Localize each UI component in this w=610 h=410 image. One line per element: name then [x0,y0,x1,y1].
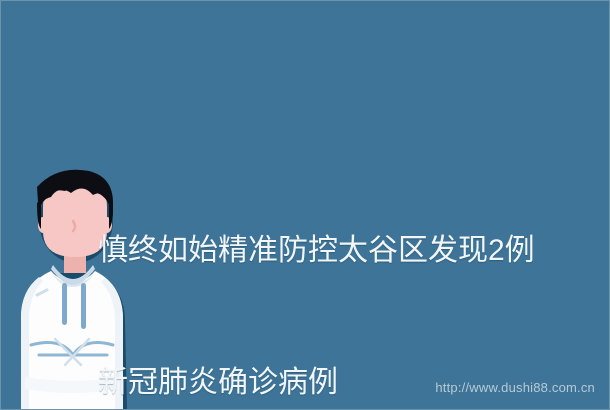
headline-line-1: 慎终如始精准防控太谷区发现2例 [98,229,598,273]
article-headline: 慎终如始精准防控太谷区发现2例 新冠肺炎确诊病例 [98,141,598,410]
source-watermark: http://www.dushi88.com.cn [435,380,595,395]
article-banner: 慎终如始精准防控太谷区发现2例 新冠肺炎确诊病例 http://www.dush… [0,0,610,410]
